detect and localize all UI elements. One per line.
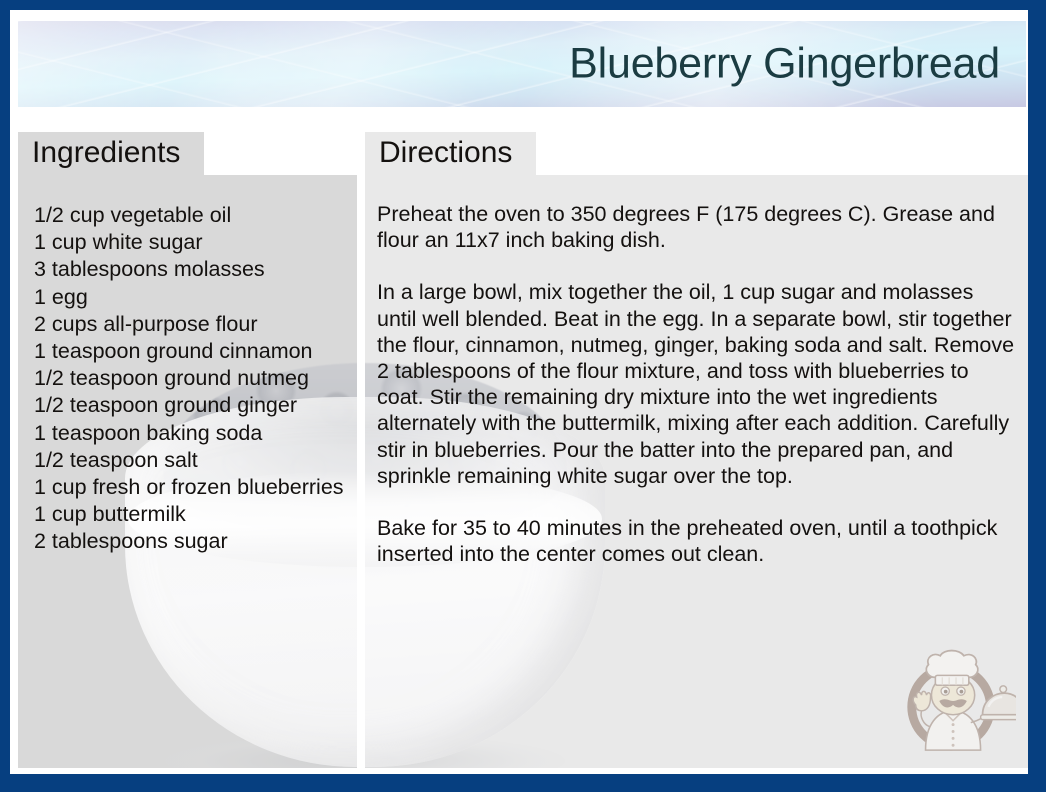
list-item: 1/2 teaspoon salt (34, 447, 345, 474)
bowl-shadow (365, 735, 565, 768)
card-inner-surface: Blueberry Gingerbread Ingredients Direct… (10, 10, 1028, 774)
list-item: 1/2 cup vegetable oil (34, 202, 345, 229)
ingredients-panel: 1/2 cup vegetable oil 1 cup white sugar … (18, 175, 357, 768)
list-item: 1 egg (34, 284, 345, 311)
directions-paragraph: Bake for 35 to 40 minutes in the preheat… (377, 515, 1016, 567)
recipe-card: Blueberry Gingerbread Ingredients Direct… (0, 0, 1046, 792)
ingredients-list: 1/2 cup vegetable oil 1 cup white sugar … (18, 175, 357, 556)
chef-logo-icon (898, 640, 1016, 758)
list-item: 1 teaspoon baking soda (34, 420, 345, 447)
list-item: 3 tablespoons molasses (34, 256, 345, 283)
tab-directions[interactable]: Directions (365, 132, 536, 176)
list-item: 1/2 teaspoon ground ginger (34, 392, 345, 419)
list-item: 1 cup white sugar (34, 229, 345, 256)
bowl-shadow (165, 735, 357, 768)
list-item: 1 teaspoon ground cinnamon (34, 338, 345, 365)
directions-paragraph: In a large bowl, mix together the oil, 1… (377, 279, 1016, 489)
tab-ingredients[interactable]: Ingredients (18, 132, 204, 176)
title-banner: Blueberry Gingerbread (18, 21, 1026, 107)
directions-paragraph: Preheat the oven to 350 degrees F (175 d… (377, 201, 1016, 253)
list-item: 1 cup buttermilk (34, 501, 345, 528)
directions-body: Preheat the oven to 350 degrees F (175 d… (365, 175, 1028, 567)
list-item: 2 cups all-purpose flour (34, 311, 345, 338)
list-item: 1/2 teaspoon ground nutmeg (34, 365, 345, 392)
page-title: Blueberry Gingerbread (569, 40, 1000, 89)
list-item: 2 tablespoons sugar (34, 528, 345, 555)
list-item: 1 cup fresh or frozen blueberries (34, 474, 345, 501)
